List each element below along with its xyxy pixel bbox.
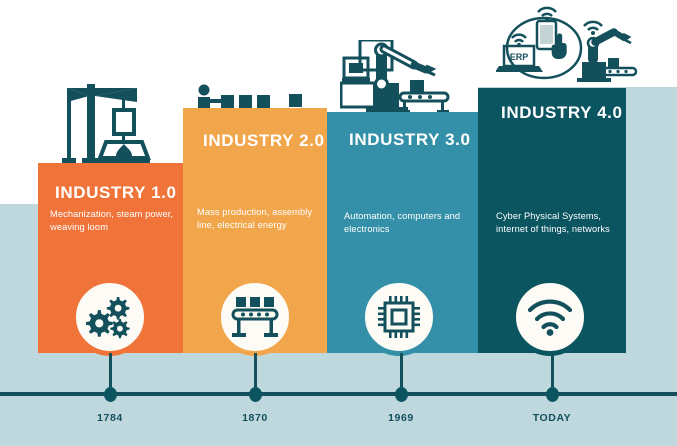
timeline-axis [0, 392, 677, 396]
timeline-year-4: TODAY [512, 412, 592, 424]
stage-description-industry-3: Automation, computers and electronics [344, 210, 478, 236]
timeline-year-2: 1870 [215, 412, 295, 424]
timeline-node-2[interactable] [249, 387, 262, 402]
timeline-node-3[interactable] [395, 387, 408, 402]
stage-title-industry-2: INDUSTRY 2.0 [203, 132, 325, 149]
stage-badge-industry-4[interactable] [511, 278, 589, 356]
erp-label: ERP [510, 52, 529, 62]
stage-description-industry-4: Cyber Physical Systems, internet of thin… [496, 210, 632, 236]
conveyor-belt-icon [231, 295, 279, 339]
stage-title-industry-3: INDUSTRY 3.0 [349, 131, 471, 148]
robotic-arm-computer-icon [340, 40, 470, 114]
stage-title-industry-1: INDUSTRY 1.0 [55, 184, 177, 201]
stage-badge-industry-3[interactable] [360, 278, 438, 356]
infographic-canvas: ERP [0, 0, 677, 446]
timeline-node-1[interactable] [104, 387, 117, 402]
gears-icon [86, 293, 134, 341]
timeline-node-4[interactable] [546, 387, 559, 402]
iot-network-icon: ERP [496, 4, 638, 88]
stage-badge-industry-1[interactable] [71, 278, 149, 356]
steam-engine-loom-icon [62, 76, 172, 168]
stage-description-industry-1: Mechanization, steam power, weaving loom [50, 208, 178, 234]
timeline-year-3: 1969 [361, 412, 441, 424]
stage-badge-industry-2[interactable] [216, 278, 294, 356]
wifi-icon [526, 298, 574, 336]
microchip-icon [376, 294, 422, 340]
stage-description-industry-2: Mass production, assembly line, electric… [197, 206, 319, 232]
timeline-year-1: 1784 [70, 412, 150, 424]
stage-title-industry-4: INDUSTRY 4.0 [501, 104, 623, 121]
